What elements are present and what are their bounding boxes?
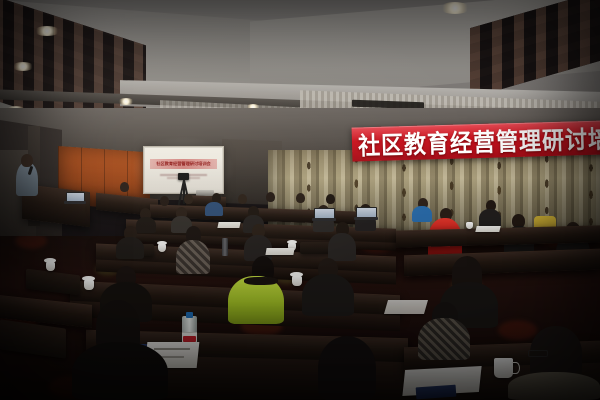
downlight-2 — [12, 62, 34, 71]
conference-room-photo: 社区教育经营管理研讨培训 社区教育经营管理研讨培训会 — [0, 0, 600, 400]
attendee-head-r5-6 — [296, 193, 305, 203]
attendee-laptop-r4-1 — [312, 208, 336, 221]
foreground-body-right — [508, 372, 600, 400]
eyeglasses-icon — [528, 350, 548, 357]
laptop-base-r4-1 — [312, 218, 336, 221]
attendee-head-r5-7 — [326, 194, 335, 204]
laptop-base-r4-2 — [354, 217, 378, 220]
bottle-cap — [186, 312, 193, 318]
staff-head-rear — [120, 182, 129, 192]
podium-laptop-base — [64, 201, 86, 204]
slide-title-text: 社区教育经营管理研讨培训会 — [156, 161, 210, 167]
handout-right-1 — [475, 226, 500, 232]
teacup-lid-r3-1 — [157, 241, 167, 245]
attendee-body-r4-1 — [136, 217, 156, 233]
teacup-lid-r2-1 — [82, 276, 95, 281]
attendee-body-patterned — [176, 240, 210, 274]
attendee-body-right-3 — [412, 206, 432, 222]
handout-r4 — [217, 222, 240, 228]
teacup-lid-r3-2 — [287, 240, 297, 244]
foreground-body-left — [72, 342, 168, 400]
attendee-body-r3-4 — [328, 233, 356, 261]
green-jacket-collar — [244, 277, 278, 285]
downlight-9 — [440, 2, 470, 14]
downlight-1 — [34, 26, 60, 36]
attendee-head-r5-4 — [238, 194, 247, 204]
attendee-laptop-r4-2 — [354, 207, 378, 220]
notebook-text-line-1 — [154, 348, 190, 350]
attendee-body-r5-blue — [205, 202, 223, 216]
attendee-body-right-4 — [479, 209, 501, 227]
slide-title-band: 社区教育经营管理研讨培训会 — [150, 159, 218, 169]
attendee-head-r5-1 — [160, 196, 169, 206]
podium-laptop — [64, 192, 86, 204]
event-banner: 社区教育经营管理研讨培训 — [352, 120, 600, 161]
teacup-left-far — [46, 262, 55, 271]
downlight-4 — [118, 98, 134, 105]
handout-r3 — [265, 248, 294, 255]
attendee-body-r3-1 — [116, 237, 144, 259]
teacup-right-1 — [466, 222, 473, 229]
thermos-body — [222, 238, 228, 256]
thermos-r3 — [222, 238, 228, 256]
banner-text: 社区教育经营管理研讨培训 — [352, 120, 600, 161]
teacup-lid-left-far — [44, 258, 56, 263]
mug-handle — [512, 362, 520, 374]
foreground-body-checkered — [418, 318, 470, 360]
white-mug — [494, 358, 513, 378]
teacup-r2-1 — [84, 280, 94, 290]
presenter-body — [16, 162, 38, 196]
attendee-head-r5-2 — [184, 194, 193, 204]
foreground-head-center — [318, 336, 376, 400]
attendee-head-r5-5 — [266, 192, 275, 202]
teacup-r2-2 — [292, 276, 302, 286]
paper-right-edge — [384, 300, 428, 314]
teacup-r3-1 — [158, 244, 166, 252]
attendee-body-r2-right — [302, 274, 354, 316]
teacup-lid-r2-2 — [290, 272, 303, 277]
